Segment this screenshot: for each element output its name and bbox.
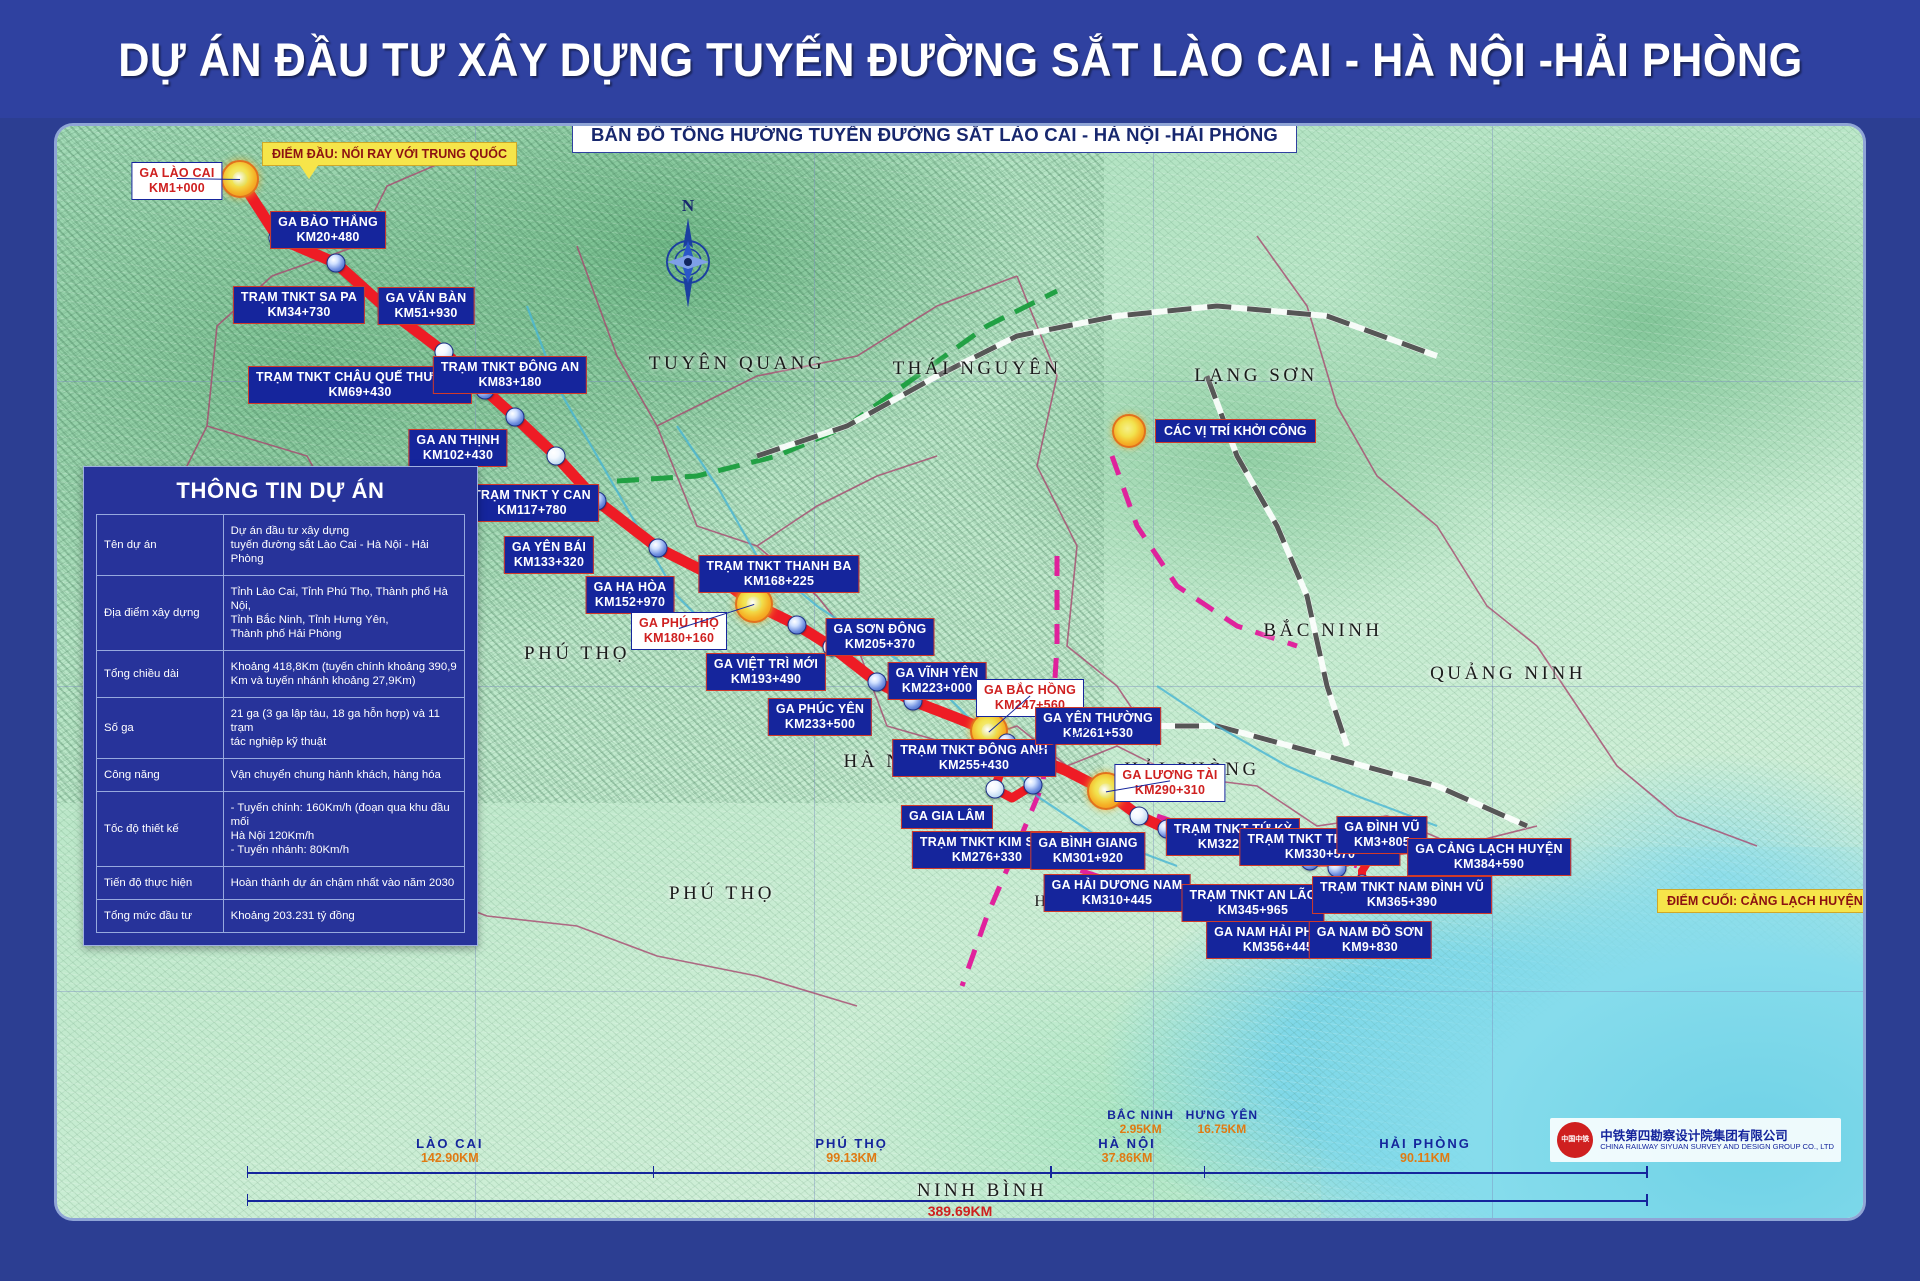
scale-segment-km: 142.90KM <box>416 1151 483 1165</box>
place-name: TUYÊN QUANG <box>649 353 825 375</box>
station-label[interactable]: GA BÌNH GIANGKM301+920 <box>1030 832 1145 870</box>
station-km-marker: KM223+000 <box>896 681 979 696</box>
station-km-marker: KM205+370 <box>834 637 927 652</box>
place-name: PHÚ THỌ <box>669 883 775 905</box>
station-label[interactable]: GA LÀO CAIKM1+000 <box>131 162 222 200</box>
total-length-label: 389.69KM <box>928 1203 993 1218</box>
info-row: Tên dự ánDự án đầu tư xây dựngtuyến đườn… <box>97 515 465 576</box>
info-row: Tổng chiều dàiKhoảng 418,8Km (tuyến chín… <box>97 651 465 698</box>
station-km-marker: KM117+780 <box>473 503 591 518</box>
station-km-marker: KM365+390 <box>1320 895 1484 910</box>
info-row-value: Vận chuyển chung hành khách, hàng hóa <box>223 759 464 792</box>
info-row-value: Hoàn thành dự án chậm nhất vào năm 2030 <box>223 867 464 900</box>
station-name: GA GIA LÂM <box>909 809 985 823</box>
station-label[interactable]: GA NAM ĐỒ SƠNKM9+830 <box>1309 921 1432 959</box>
scale-total-axis <box>247 1200 1647 1202</box>
major-station-marker-icon <box>1112 414 1146 448</box>
station-marker[interactable] <box>1024 776 1043 795</box>
station-label[interactable]: GA AN THỊNHKM102+430 <box>408 429 507 467</box>
start-point-callout: ĐIỂM ĐẦU: NỐI RAY VỚI TRUNG QUỐC <box>262 142 517 166</box>
station-label[interactable]: GA LƯƠNG TÀIKM290+310 <box>1114 764 1225 802</box>
station-name: TRẠM TNKT Y CAN <box>473 488 591 502</box>
station-marker[interactable] <box>547 447 566 466</box>
project-info-table: Tên dự ánDự án đầu tư xây dựngtuyến đườn… <box>96 514 465 933</box>
info-row-key: Địa điểm xây dựng <box>97 576 224 651</box>
station-label[interactable]: GA HẢI DƯƠNG NAMKM310+445 <box>1044 874 1191 912</box>
station-name: GA AN THỊNH <box>416 433 499 447</box>
scale-tick <box>1646 1166 1648 1178</box>
info-row-value: Khoảng 418,8Km (tuyến chính khoảng 390,9… <box>223 651 464 698</box>
station-label[interactable]: GA YÊN BÁIKM133+320 <box>504 536 594 574</box>
station-km-marker: KM193+490 <box>714 672 818 687</box>
info-row: Số ga21 ga (3 ga lập tàu, 18 ga hỗn hợp)… <box>97 698 465 759</box>
station-label[interactable]: GA GIA LÂM <box>901 805 993 829</box>
station-name: GA VĂN BÀN <box>386 291 467 305</box>
company-name-en: CHINA RAILWAY SIYUAN SURVEY AND DESIGN G… <box>1600 1142 1834 1151</box>
station-label[interactable]: TRẠM TNKT Y CANKM117+780 <box>465 484 599 522</box>
station-marker[interactable] <box>649 539 668 558</box>
station-label[interactable]: GA VIỆT TRÌ MỚIKM193+490 <box>706 653 826 691</box>
station-name: GA HẢI DƯƠNG NAM <box>1052 878 1183 892</box>
scale-branch-province: HƯNG YÊN <box>1186 1108 1258 1122</box>
station-name: TRẠM TNKT THANH BA <box>706 559 851 573</box>
station-name: TRẠM TNKT SA PA <box>241 290 357 304</box>
info-row: Tốc độ thiết kế- Tuyến chính: 160Km/h (đ… <box>97 792 465 867</box>
scale-segment-km: 99.13KM <box>815 1151 888 1165</box>
project-info-panel: THÔNG TIN DỰ ÁN Tên dự ánDự án đầu tư xâ… <box>83 466 478 946</box>
station-name: TRẠM TNKT ĐÔNG AN <box>441 360 579 374</box>
scale-segment-province: LÀO CAI <box>416 1136 483 1151</box>
station-km-marker: KM255+430 <box>900 758 1048 773</box>
place-name: PHÚ THỌ <box>524 643 630 665</box>
station-label[interactable]: TRẠM TNKT THANH BAKM168+225 <box>698 555 859 593</box>
station-km-marker: KM34+730 <box>241 305 357 320</box>
station-km-marker: KM9+830 <box>1317 940 1424 955</box>
station-label[interactable]: TRẠM TNKT ĐÔNG ANKM83+180 <box>433 356 587 394</box>
page-title: DỰ ÁN ĐẦU TƯ XÂY DỰNG TUYẾN ĐƯỜNG SẮT LÀ… <box>118 32 1802 87</box>
scale-segment-km: 37.86KM <box>1098 1151 1156 1165</box>
station-km-marker: KM83+180 <box>441 375 579 390</box>
station-km-marker: KM233+500 <box>776 717 864 732</box>
compass-north-label: N <box>682 196 694 216</box>
station-label[interactable]: GA CẢNG LẠCH HUYỆNKM384+590 <box>1407 838 1571 876</box>
station-km-marker: KM261+530 <box>1043 726 1153 741</box>
station-km-marker: KM180+160 <box>639 631 719 646</box>
legend-start-points: CÁC VỊ TRÍ KHỞI CÔNG <box>1112 414 1316 448</box>
station-km-marker: KM310+445 <box>1052 893 1183 908</box>
station-label[interactable]: GA VĨNH YÊNKM223+000 <box>888 662 987 700</box>
scale-segment: PHÚ THỌ99.13KM <box>815 1136 888 1165</box>
station-marker[interactable] <box>986 780 1005 799</box>
station-km-marker: KM384+590 <box>1415 857 1563 872</box>
project-info-title: THÔNG TIN DỰ ÁN <box>84 467 477 514</box>
station-marker[interactable] <box>1130 807 1149 826</box>
station-km-marker: KM133+320 <box>512 555 586 570</box>
title-bar: DỰ ÁN ĐẦU TƯ XÂY DỰNG TUYẾN ĐƯỜNG SẮT LÀ… <box>0 0 1920 118</box>
info-row-key: Công năng <box>97 759 224 792</box>
scale-segment: HẢI PHÒNG90.11KM <box>1379 1136 1471 1165</box>
station-name: GA YÊN BÁI <box>512 540 586 554</box>
station-name: GA HẠ HÒA <box>594 580 667 594</box>
scale-total-tick <box>247 1194 249 1206</box>
station-name: GA PHÚC YÊN <box>776 702 864 716</box>
company-logo: 中国中铁 中铁第四勘察设计院集团有限公司 CHINA RAILWAY SIYUA… <box>1550 1118 1841 1162</box>
scale-branch-province: BẮC NINH <box>1107 1108 1174 1122</box>
station-name: GA NAM ĐỒ SƠN <box>1317 925 1424 939</box>
station-km-marker: KM102+430 <box>416 448 499 463</box>
station-name: GA SƠN ĐÔNG <box>834 622 927 636</box>
place-name: THÁI NGUYÊN <box>893 358 1062 380</box>
info-row-value: - Tuyến chính: 160Km/h (đoạn qua khu đầu… <box>223 792 464 867</box>
legend-start-points-label: CÁC VỊ TRÍ KHỞI CÔNG <box>1155 419 1316 443</box>
scale-total-tick <box>1646 1194 1648 1206</box>
compass-rose: N <box>657 196 719 314</box>
station-km-marker: KM51+930 <box>386 306 467 321</box>
station-label[interactable]: GA PHÚC YÊNKM233+500 <box>768 698 872 736</box>
station-name: GA BÌNH GIANG <box>1038 836 1137 850</box>
station-name: GA CẢNG LẠCH HUYỆN <box>1415 842 1563 856</box>
station-km-marker: KM168+225 <box>706 574 851 589</box>
station-marker[interactable] <box>868 673 887 692</box>
scale-branch-km: 16.75KM <box>1186 1122 1258 1136</box>
info-row: Tổng mức đầu tưKhoảng 203.231 tỷ đồng <box>97 900 465 933</box>
scale-axis <box>247 1172 1647 1174</box>
scale-segment-province: HẢI PHÒNG <box>1379 1136 1471 1151</box>
station-label[interactable]: TRẠM TNKT ĐÔNG ANHKM255+430 <box>892 739 1056 777</box>
place-name: LẠNG SƠN <box>1194 365 1318 387</box>
station-label[interactable]: GA VĂN BÀNKM51+930 <box>378 287 475 325</box>
station-name: GA VĨNH YÊN <box>896 666 979 680</box>
scale-branch: BẮC NINH2.95KM <box>1107 1108 1174 1136</box>
station-label[interactable]: TRẠM TNKT SA PAKM34+730 <box>233 286 365 324</box>
station-km-marker: KM345+965 <box>1189 903 1316 918</box>
info-row: Công năngVận chuyển chung hành khách, hà… <box>97 759 465 792</box>
station-label[interactable]: GA BẢO THẮNGKM20+480 <box>270 211 386 249</box>
info-row-key: Tổng mức đầu tư <box>97 900 224 933</box>
info-row-key: Số ga <box>97 698 224 759</box>
station-km-marker: KM20+480 <box>278 230 378 245</box>
map-canvas[interactable]: BẢN ĐỒ TỔNG HƯỚNG TUYẾN ĐƯỜNG SẮT LÀO CA… <box>57 126 1863 1218</box>
station-label[interactable]: GA YÊN THƯỜNGKM261+530 <box>1035 707 1161 745</box>
scale-branch-km: 2.95KM <box>1107 1122 1174 1136</box>
scale-segment-province: HÀ NỘI <box>1098 1136 1156 1151</box>
station-km-marker: KM301+920 <box>1038 851 1137 866</box>
place-name: QUẢNG NINH <box>1430 663 1586 685</box>
place-name: BẮC NINH <box>1263 620 1382 642</box>
station-label[interactable]: GA HẠ HÒAKM152+970 <box>586 576 675 614</box>
station-name: GA VIỆT TRÌ MỚI <box>714 657 818 671</box>
info-row-key: Tốc độ thiết kế <box>97 792 224 867</box>
station-label[interactable]: GA SƠN ĐÔNGKM205+370 <box>826 618 935 656</box>
scale-segment: LÀO CAI142.90KM <box>416 1136 483 1165</box>
info-row-value: Khoảng 203.231 tỷ đồng <box>223 900 464 933</box>
end-point-callout: ĐIỂM CUỐI: CẢNG LẠCH HUYỆN <box>1657 889 1863 913</box>
info-row: Địa điểm xây dựngTỉnh Lào Cai, Tỉnh Phú … <box>97 576 465 651</box>
scale-branch: HƯNG YÊN16.75KM <box>1186 1108 1258 1136</box>
scale-tick <box>1050 1166 1052 1178</box>
company-logo-mark: 中国中铁 <box>1557 1122 1593 1158</box>
station-marker[interactable] <box>788 616 807 635</box>
info-row-value: 21 ga (3 ga lập tàu, 18 ga hỗn hợp) và 1… <box>223 698 464 759</box>
info-row-key: Tên dự án <box>97 515 224 576</box>
map-subtitle: BẢN ĐỒ TỔNG HƯỚNG TUYẾN ĐƯỜNG SẮT LÀO CA… <box>572 126 1297 153</box>
info-row-key: Tiến độ thực hiện <box>97 867 224 900</box>
station-label[interactable]: TRẠM TNKT NAM ĐÌNH VŨKM365+390 <box>1312 876 1492 914</box>
station-name: TRẠM TNKT AN LÃO <box>1189 888 1316 902</box>
station-name: GA BẢO THẮNG <box>278 215 378 229</box>
info-row-value: Tỉnh Lào Cai, Tỉnh Phú Thọ, Thành phố Hà… <box>223 576 464 651</box>
station-name: GA ĐÌNH VŨ <box>1344 820 1419 834</box>
scale-tick <box>247 1166 249 1178</box>
station-km-marker: KM152+970 <box>594 595 667 610</box>
station-label[interactable]: TRẠM TNKT AN LÃOKM345+965 <box>1181 884 1324 922</box>
station-name: TRẠM TNKT ĐÔNG ANH <box>900 743 1048 757</box>
station-km-marker: KM1+000 <box>139 181 214 196</box>
company-name-cn: 中铁第四勘察设计院集团有限公司 <box>1600 1130 1834 1142</box>
station-marker[interactable] <box>327 254 346 273</box>
info-row-value: Dự án đầu tư xây dựngtuyến đường sắt Lào… <box>223 515 464 576</box>
scale-segment: HÀ NỘI37.86KM <box>1098 1136 1156 1165</box>
info-row: Tiến độ thực hiệnHoàn thành dự án chậm n… <box>97 867 465 900</box>
scale-segment-km: 90.11KM <box>1379 1151 1471 1165</box>
station-marker[interactable] <box>506 408 525 427</box>
scale-segment-province: PHÚ THỌ <box>815 1136 888 1151</box>
scale-tick <box>653 1166 655 1178</box>
info-row-key: Tổng chiều dài <box>97 651 224 698</box>
scale-tick <box>1204 1166 1206 1178</box>
station-name: TRẠM TNKT NAM ĐÌNH VŨ <box>1320 880 1484 894</box>
